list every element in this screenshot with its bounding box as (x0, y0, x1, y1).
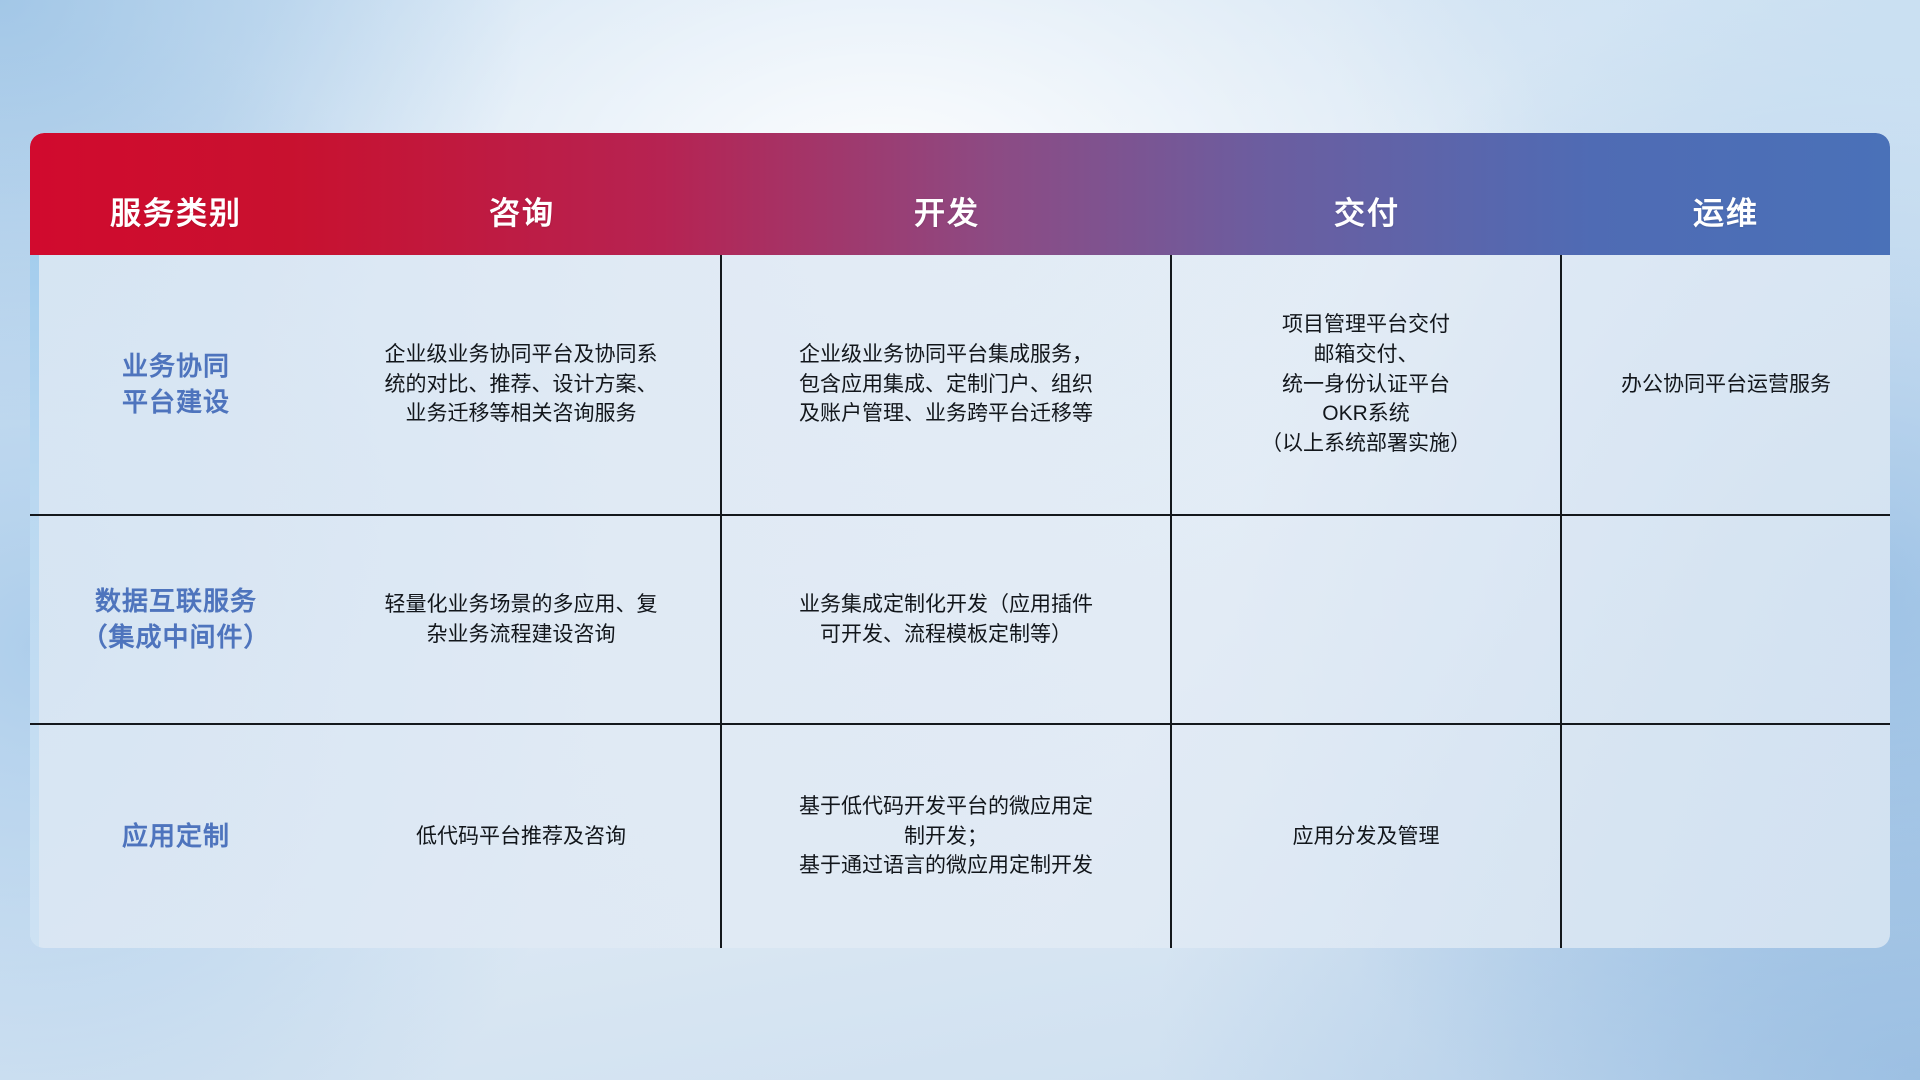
cell-delivery-row2 (1172, 516, 1562, 723)
column-header-development: 开发 (722, 133, 1172, 255)
cell-development-row1: 企业级业务协同平台集成服务， 包含应用集成、定制门户、组织 及账户管理、业务跨平… (722, 255, 1172, 514)
cell-development-row3: 基于低代码开发平台的微应用定 制开发； 基于通过语言的微应用定制开发 (722, 725, 1172, 948)
cell-development-row2: 业务集成定制化开发（应用插件 可开发、流程模板定制等） (722, 516, 1172, 723)
table-row: 数据互联服务 （集成中间件） 轻量化业务场景的多应用、复 杂业务流程建设咨询 业… (30, 514, 1890, 723)
cell-consulting-row2: 轻量化业务场景的多应用、复 杂业务流程建设咨询 (322, 516, 722, 723)
column-header-consulting: 咨询 (322, 133, 722, 255)
column-header-delivery: 交付 (1172, 133, 1562, 255)
table-row: 应用定制 低代码平台推荐及咨询 基于低代码开发平台的微应用定 制开发； 基于通过… (30, 723, 1890, 948)
row-label-data-interconnect: 数据互联服务 （集成中间件） (30, 516, 322, 723)
table-header-row: 服务类别 咨询 开发 交付 运维 (30, 133, 1890, 255)
cell-consulting-row1: 企业级业务协同平台及协同系 统的对比、推荐、设计方案、 业务迁移等相关咨询服务 (322, 255, 722, 514)
column-header-service-category: 服务类别 (30, 133, 322, 255)
table-row: 业务协同 平台建设 企业级业务协同平台及协同系 统的对比、推荐、设计方案、 业务… (30, 255, 1890, 514)
cell-operations-row1: 办公协同平台运营服务 (1562, 255, 1890, 514)
cell-delivery-row3: 应用分发及管理 (1172, 725, 1562, 948)
row-label-business-collaboration: 业务协同 平台建设 (30, 255, 322, 514)
cell-operations-row2 (1562, 516, 1890, 723)
table-body: 业务协同 平台建设 企业级业务协同平台及协同系 统的对比、推荐、设计方案、 业务… (30, 255, 1890, 948)
service-matrix-panel: 服务类别 咨询 开发 交付 运维 业务协同 平台建设 企业级业务协同平台及协同系… (30, 133, 1890, 948)
cell-delivery-row1: 项目管理平台交付 邮箱交付、 统一身份认证平台 OKR系统 （以上系统部署实施） (1172, 255, 1562, 514)
row-label-application-customization: 应用定制 (30, 725, 322, 948)
cell-operations-row3 (1562, 725, 1890, 948)
cell-consulting-row3: 低代码平台推荐及咨询 (322, 725, 722, 948)
column-header-operations: 运维 (1562, 133, 1890, 255)
